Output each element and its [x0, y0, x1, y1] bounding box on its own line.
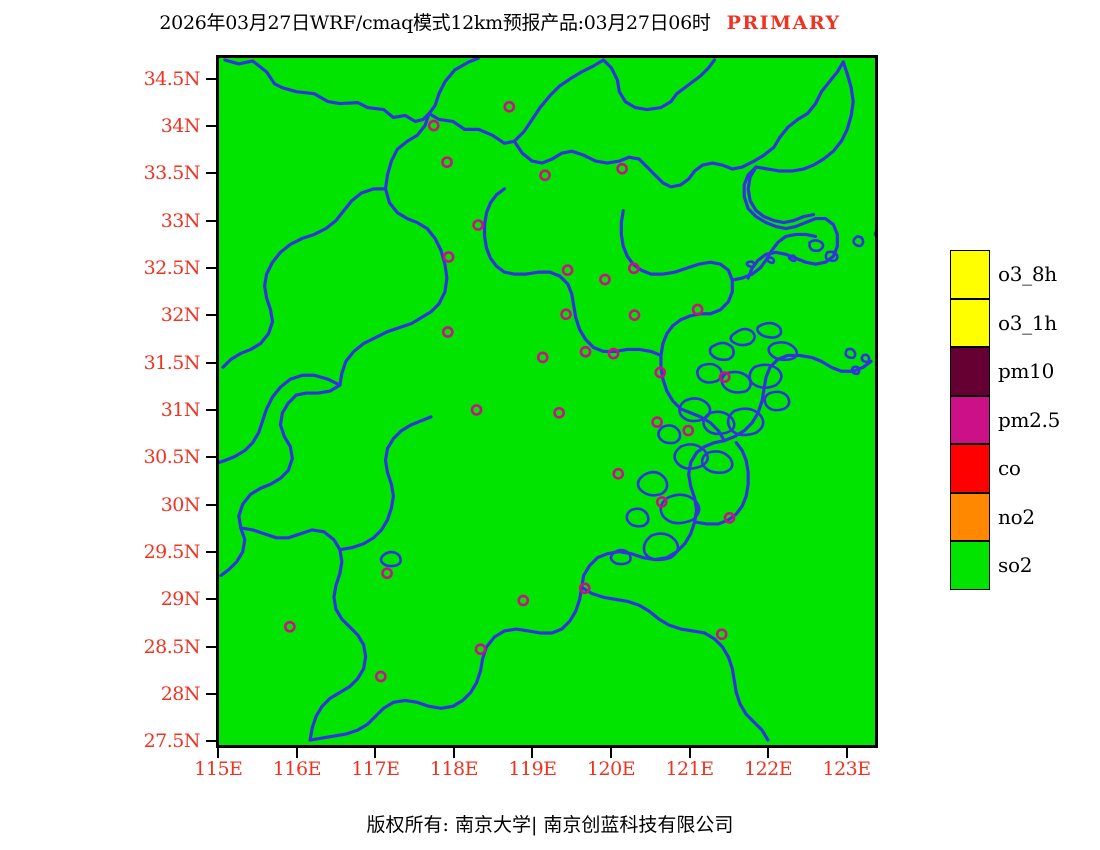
x-axis-tick	[453, 748, 455, 758]
station-marker[interactable]	[693, 305, 702, 314]
station-marker[interactable]	[581, 347, 590, 356]
legend-label: o3_8h	[998, 262, 1057, 286]
station-marker[interactable]	[444, 252, 453, 261]
station-marker[interactable]	[376, 672, 385, 681]
legend-item-so2[interactable]: so2	[950, 541, 1060, 590]
legend-item-o3-1h[interactable]: o3_1h	[950, 299, 1060, 348]
islands	[381, 230, 875, 566]
station-marker[interactable]	[442, 158, 451, 167]
station-marker[interactable]	[555, 408, 564, 417]
station-marker[interactable]	[443, 327, 452, 336]
y-axis-label: 34N	[0, 115, 200, 137]
station-marker[interactable]	[561, 310, 570, 319]
station-marker[interactable]	[505, 102, 514, 111]
station-marker[interactable]	[474, 220, 483, 229]
x-axis-label: 119E	[508, 758, 556, 780]
y-axis-tick	[206, 362, 216, 364]
station-marker[interactable]	[684, 426, 693, 435]
y-axis-tick	[206, 78, 216, 80]
pollutant-legend: o3_8ho3_1hpm10pm2.5cono2so2	[950, 250, 1060, 590]
legend-swatch-o3-8h	[950, 250, 990, 299]
station-marker[interactable]	[717, 630, 726, 639]
legend-item-co[interactable]: co	[950, 444, 1060, 493]
y-axis-label: 32N	[0, 304, 200, 326]
legend-swatch-o3-1h	[950, 299, 990, 348]
station-marker[interactable]	[614, 469, 623, 478]
x-axis-label: 123E	[823, 758, 871, 780]
legend-swatch-pm10	[950, 347, 990, 396]
y-axis-label: 29N	[0, 588, 200, 610]
y-axis-label: 30N	[0, 494, 200, 516]
y-axis-tick	[206, 409, 216, 411]
legend-swatch-pm2-5	[950, 396, 990, 445]
station-marker[interactable]	[476, 645, 485, 654]
coastline	[744, 62, 853, 278]
y-axis-label: 31.5N	[0, 352, 200, 374]
legend-label: no2	[998, 505, 1035, 529]
x-axis-label: 118E	[430, 758, 478, 780]
legend-label: o3_1h	[998, 311, 1057, 335]
y-axis-tick	[206, 267, 216, 269]
x-axis-tick	[767, 748, 769, 758]
y-axis-tick	[206, 504, 216, 506]
legend-label: pm2.5	[998, 408, 1060, 432]
station-marker[interactable]	[540, 171, 549, 180]
station-marker[interactable]	[600, 275, 609, 284]
copyright-footer: 版权所有: 南京大学| 南京创蓝科技有限公司	[0, 810, 1100, 837]
x-axis-tick	[217, 748, 219, 758]
x-axis-label: 121E	[665, 758, 713, 780]
y-axis-tick	[206, 740, 216, 742]
page-title: 2026年03月27日WRF/cmaq模式12km预报产品:03月27日06时P…	[0, 8, 1000, 35]
x-axis-label: 115E	[194, 758, 242, 780]
y-axis-tick	[206, 551, 216, 553]
y-axis-tick	[206, 220, 216, 222]
station-marker[interactable]	[630, 311, 639, 320]
legend-swatch-co	[950, 444, 990, 493]
station-marker[interactable]	[653, 418, 662, 427]
y-axis-label: 33N	[0, 210, 200, 232]
map-plot-area[interactable]	[216, 55, 878, 748]
station-marker[interactable]	[383, 569, 392, 578]
y-axis-label: 34.5N	[0, 68, 200, 90]
y-axis-tick	[206, 646, 216, 648]
y-axis-label: 33.5N	[0, 162, 200, 184]
legend-item-no2[interactable]: no2	[950, 493, 1060, 542]
y-axis-label: 28N	[0, 683, 200, 705]
y-axis-label: 29.5N	[0, 541, 200, 563]
x-axis-label: 120E	[587, 758, 635, 780]
legend-item-pm2-5[interactable]: pm2.5	[950, 396, 1060, 445]
y-axis-label: 30.5N	[0, 446, 200, 468]
legend-label: co	[998, 456, 1021, 480]
station-marker[interactable]	[563, 266, 572, 275]
legend-swatch-so2	[950, 541, 990, 590]
y-axis-tick	[206, 172, 216, 174]
station-marker[interactable]	[519, 596, 528, 605]
station-marker[interactable]	[429, 121, 438, 130]
map-canvas	[219, 58, 875, 745]
station-marker[interactable]	[285, 622, 294, 631]
x-axis-tick	[846, 748, 848, 758]
legend-item-o3-8h[interactable]: o3_8h	[950, 250, 1060, 299]
station-marker[interactable]	[618, 164, 627, 173]
y-axis-tick	[206, 456, 216, 458]
x-axis-label: 117E	[351, 758, 399, 780]
station-marker[interactable]	[538, 353, 547, 362]
y-axis-label: 27.5N	[0, 730, 200, 752]
x-axis-tick	[374, 748, 376, 758]
province-boundaries	[219, 58, 871, 740]
y-axis-label: 31N	[0, 399, 200, 421]
x-axis-label: 122E	[744, 758, 792, 780]
legend-label: so2	[998, 553, 1032, 577]
legend-swatch-no2	[950, 493, 990, 542]
title-main-text: 2026年03月27日WRF/cmaq模式12km预报产品:03月27日06时	[159, 12, 710, 34]
legend-label: pm10	[998, 359, 1054, 383]
station-marker[interactable]	[472, 405, 481, 414]
x-axis-label: 116E	[273, 758, 321, 780]
x-axis-tick	[296, 748, 298, 758]
x-axis-tick	[531, 748, 533, 758]
y-axis-label: 28.5N	[0, 636, 200, 658]
legend-item-pm10[interactable]: pm10	[950, 347, 1060, 396]
x-axis-tick	[689, 748, 691, 758]
y-axis-label: 32.5N	[0, 257, 200, 279]
y-axis-tick	[206, 693, 216, 695]
title-primary-tag: PRIMARY	[727, 12, 841, 34]
x-axis-tick	[610, 748, 612, 758]
y-axis-tick	[206, 314, 216, 316]
y-axis-tick	[206, 598, 216, 600]
y-axis-tick	[206, 125, 216, 127]
